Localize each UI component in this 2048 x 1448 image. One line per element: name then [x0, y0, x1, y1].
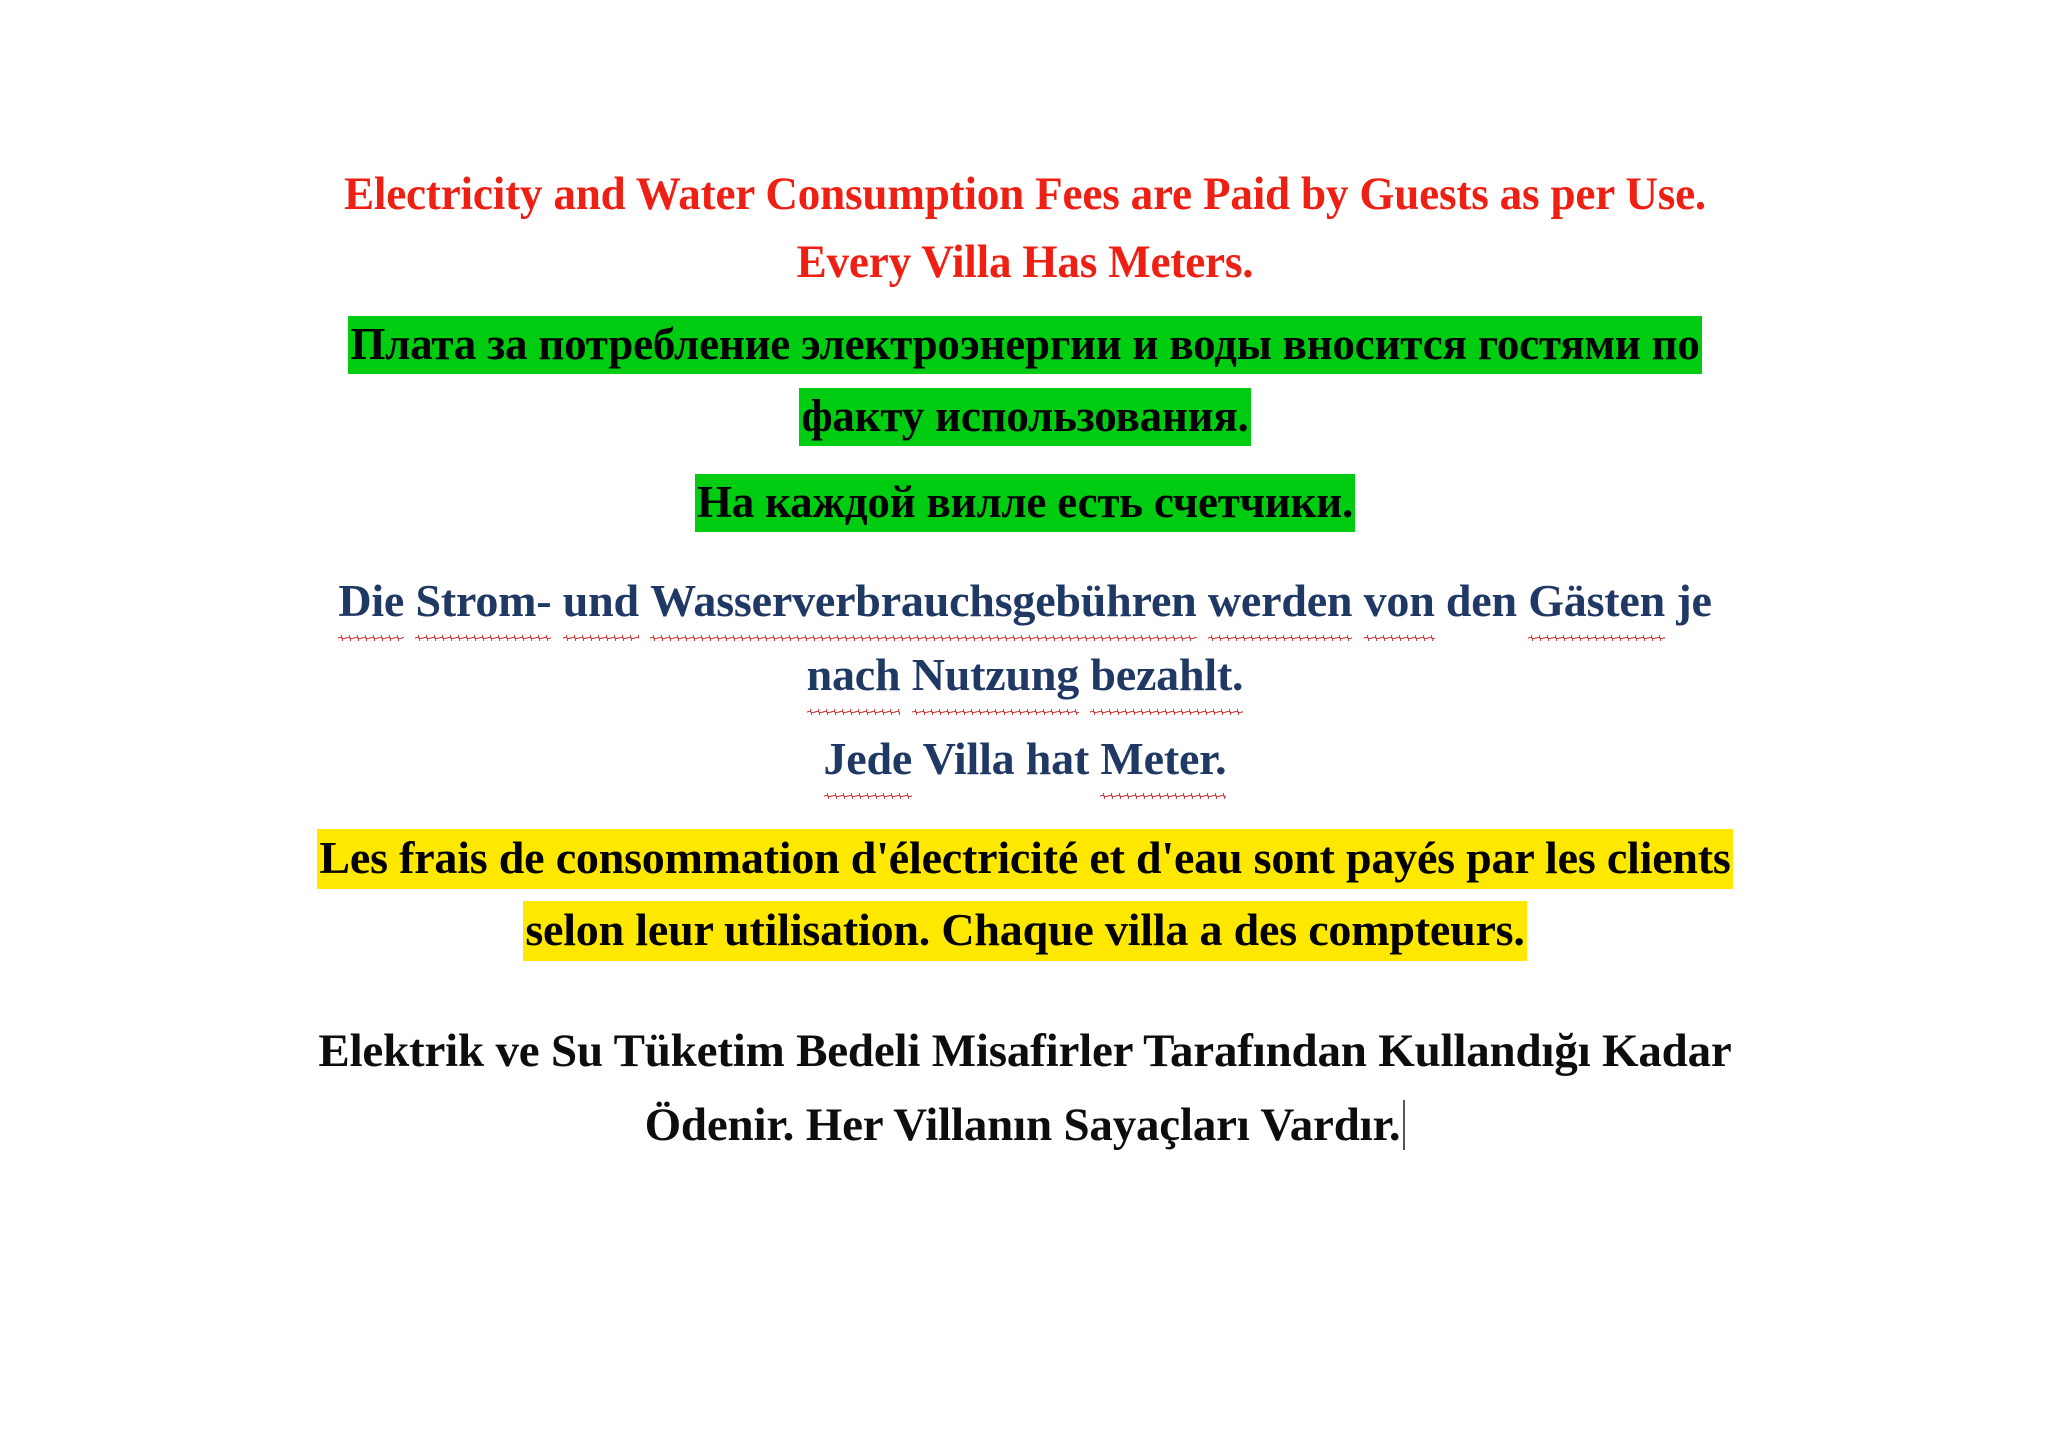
english-line-1: Electricity and Water Consumption Fees a…	[219, 160, 1832, 228]
text-cursor-caret	[1403, 1100, 1405, 1150]
paragraph-english[interactable]: Electricity and Water Consumption Fees a…	[185, 160, 1865, 296]
english-line-2: Every Villa Has Meters.	[219, 228, 1832, 296]
russian-line-3-wrap: На каждой вилле есть счетчики.	[185, 466, 1865, 538]
german-word: und	[563, 564, 639, 638]
german-word: Meter.	[1100, 722, 1226, 796]
turkish-line-2: Ödenir. Her Villanın Sayaçları Vardır.	[645, 1099, 1401, 1151]
german-word: Nutzung	[912, 638, 1079, 712]
german-word: Wasserverbrauchsgebühren	[650, 564, 1196, 638]
german-word: Strom-	[415, 564, 551, 638]
german-word: Gästen	[1528, 564, 1665, 638]
german-word: Die	[338, 564, 404, 638]
russian-line-1: Плата за потребление электроэнергии и во…	[348, 316, 1701, 374]
german-word: werden	[1208, 564, 1352, 638]
french-line-2-wrap: selon leur utilisation. Chaque villa a d…	[185, 894, 1865, 966]
document-body[interactable]: Electricity and Water Consumption Fees a…	[185, 160, 1865, 1162]
german-word: den	[1446, 575, 1517, 626]
russian-line-3: На каждой вилле есть счетчики.	[695, 474, 1355, 532]
paragraph-turkish[interactable]: Elektrik ve Su Tüketim Bedeli Misafirler…	[185, 1014, 1865, 1162]
french-line-2: selon leur utilisation. Chaque villa a d…	[523, 901, 1526, 961]
turkish-line-1: Elektrik ve Su Tüketim Bedeli Misafirler…	[185, 1014, 1865, 1088]
paragraph-russian[interactable]: Плата за потребление электроэнергии и во…	[185, 308, 1865, 452]
french-line-1: Les frais de consommation d'électricité …	[317, 829, 1732, 889]
german-line-2: nach Nutzung bezahlt.	[185, 638, 1865, 712]
german-word: von	[1364, 564, 1435, 638]
document-page: Electricity and Water Consumption Fees a…	[0, 0, 2048, 1448]
russian-line-2-wrap: факту использования.	[185, 380, 1865, 452]
german-word: je	[1676, 575, 1711, 626]
french-line-1-wrap: Les frais de consommation d'électricité …	[185, 822, 1865, 894]
turkish-line-2-wrap: Ödenir. Her Villanın Sayaçları Vardır.	[185, 1088, 1865, 1162]
paragraph-german-meters[interactable]: Jede Villa hat Meter.	[185, 722, 1865, 796]
paragraph-russian-meters[interactable]: На каждой вилле есть счетчики.	[185, 466, 1865, 538]
german-line-1: Die Strom- und Wasserverbrauchsgebühren …	[185, 564, 1865, 638]
german-word: Jede	[824, 722, 913, 796]
german-word: Villa	[923, 733, 1015, 784]
german-word: bezahlt.	[1090, 638, 1243, 712]
paragraph-french[interactable]: Les frais de consommation d'électricité …	[185, 822, 1865, 966]
german-word: hat	[1026, 733, 1089, 784]
russian-line-1-wrap: Плата за потребление электроэнергии и во…	[185, 308, 1865, 380]
russian-line-2: факту использования.	[799, 388, 1250, 446]
german-line-3: Jede Villa hat Meter.	[185, 722, 1865, 796]
paragraph-german[interactable]: Die Strom- und Wasserverbrauchsgebühren …	[185, 564, 1865, 712]
german-word: nach	[807, 638, 901, 712]
